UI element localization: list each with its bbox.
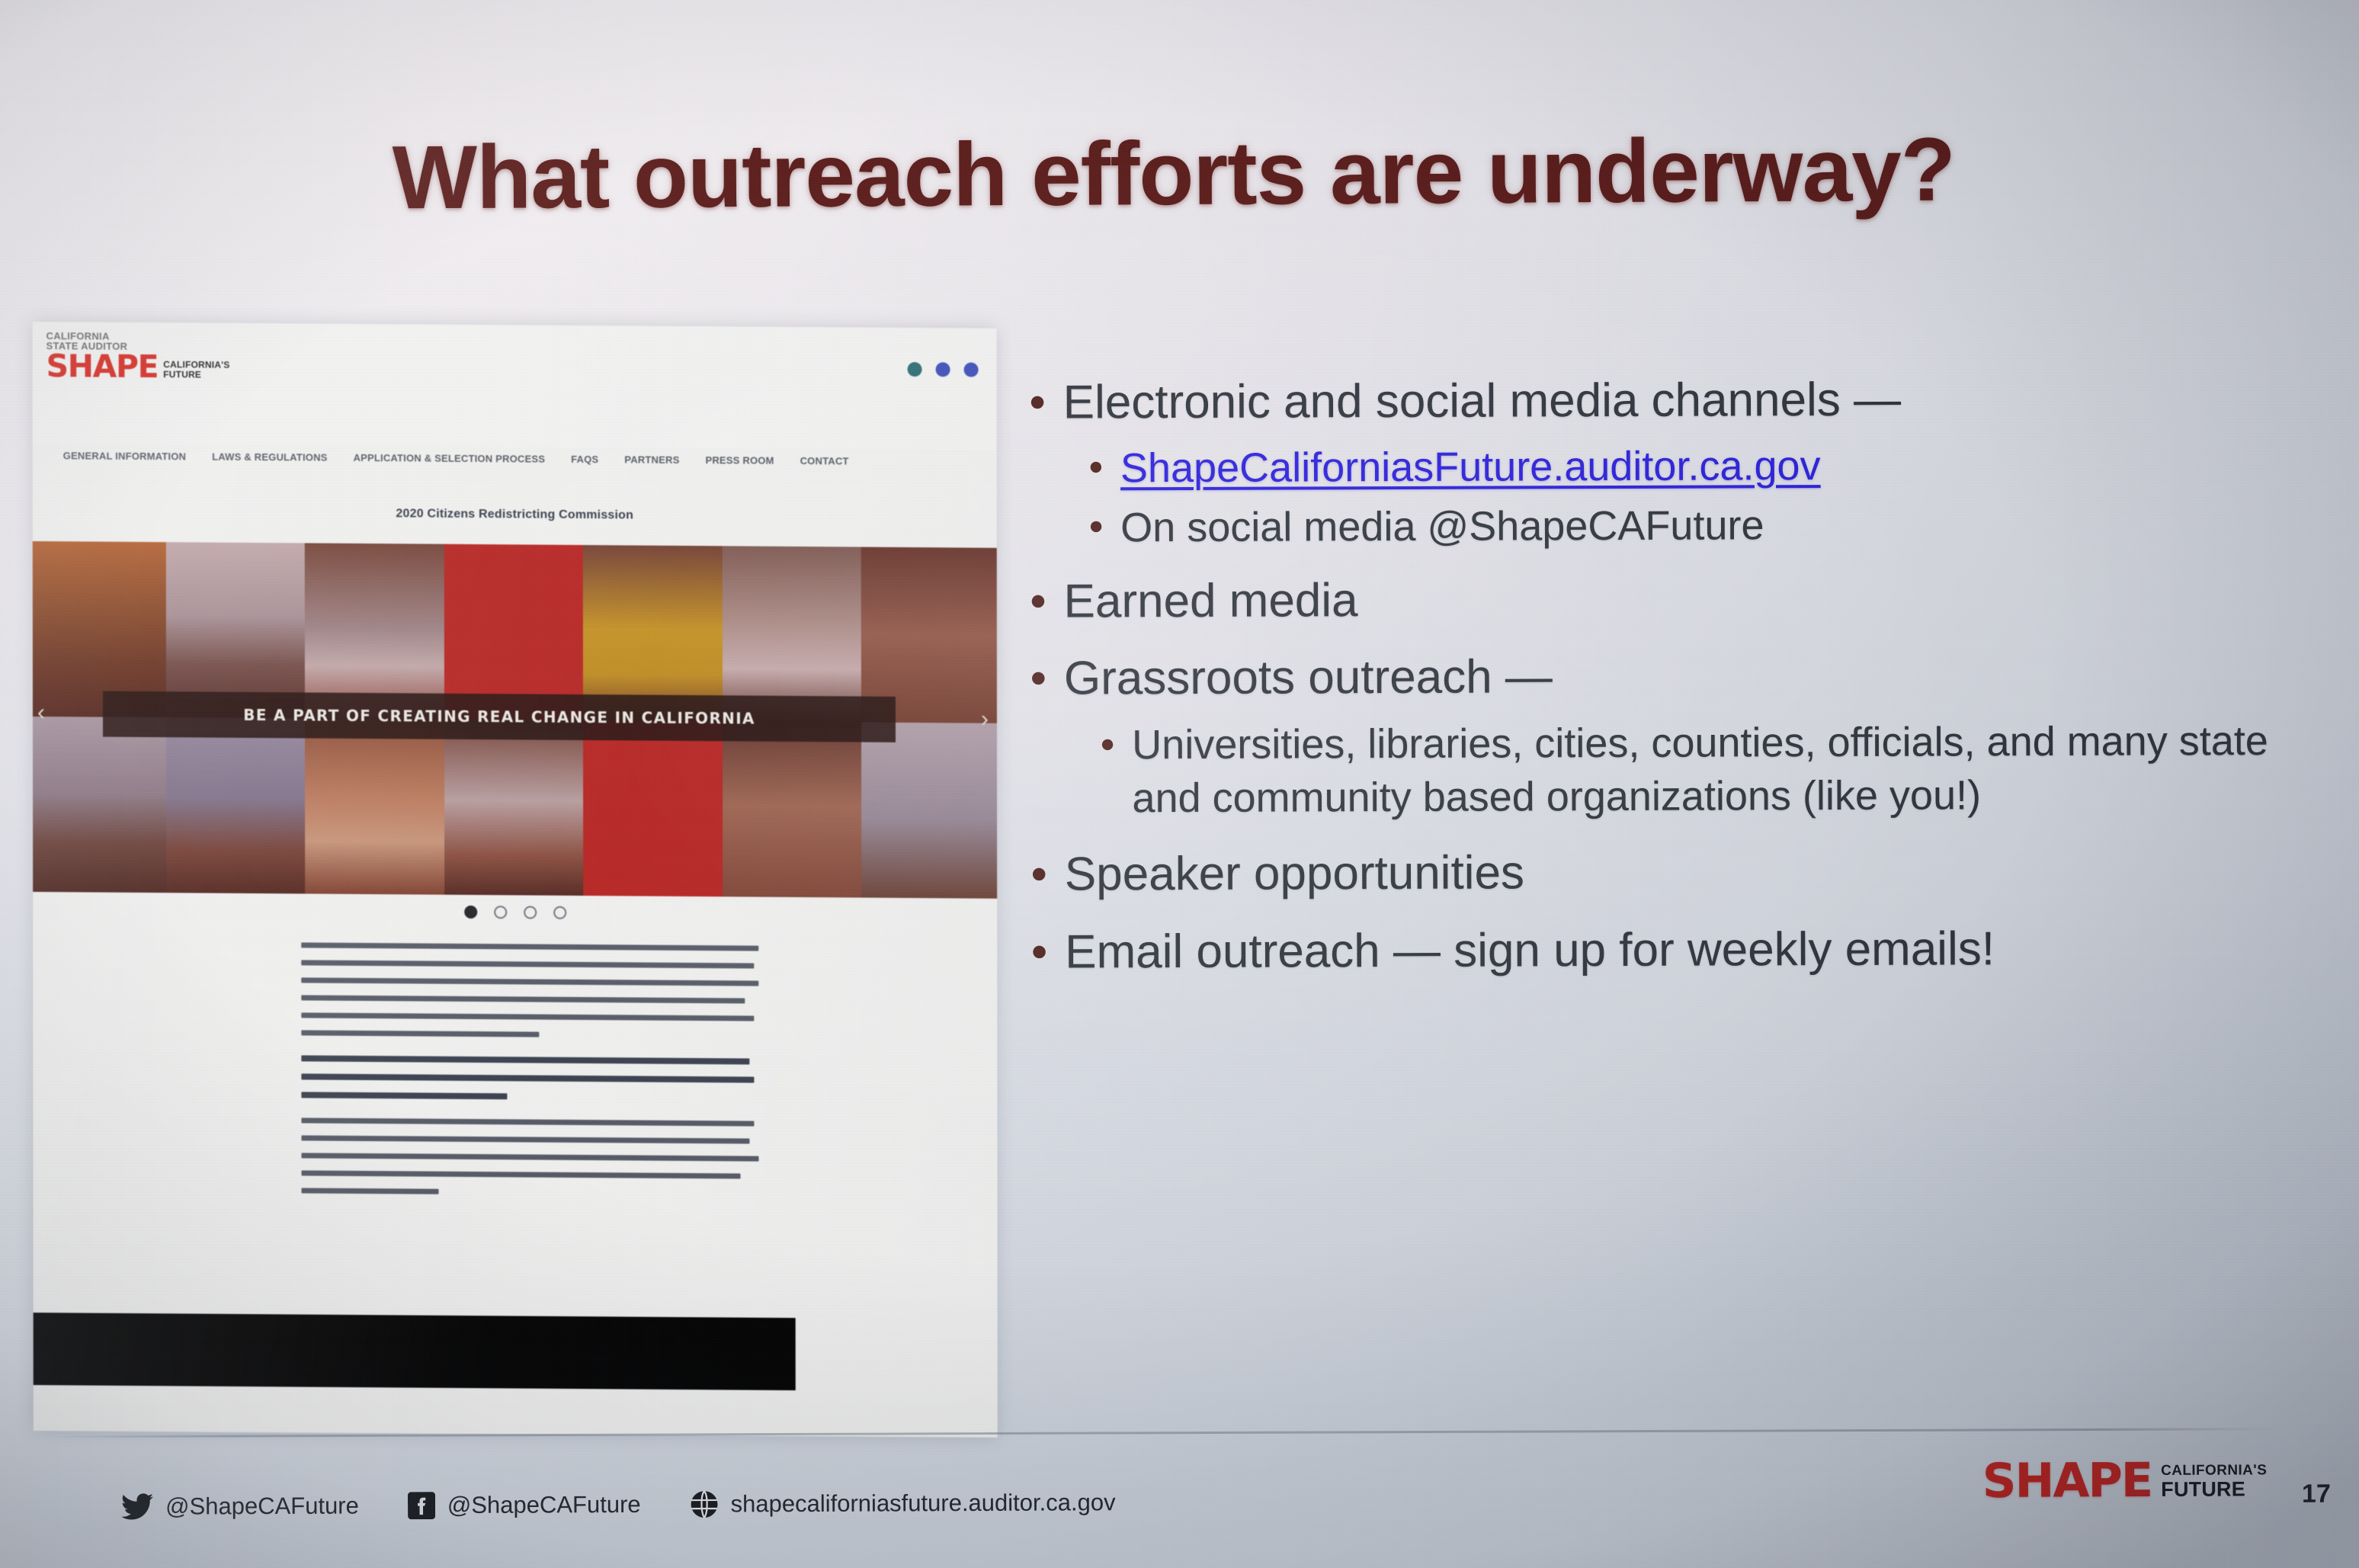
bullet-item: ● Electronic and social media channels — <box>1028 368 2324 434</box>
bullet-marker-icon: ● <box>1088 510 1104 544</box>
carousel-dot[interactable] <box>524 906 537 919</box>
nav-item-partners[interactable]: PARTNERS <box>624 454 679 466</box>
mosaic-photo <box>861 723 997 899</box>
carousel-prev-icon[interactable]: ‹ <box>37 700 45 726</box>
bullet-item: ● Speaker opportunities <box>1030 839 2325 906</box>
bullet-text: Email outreach — sign up for weekly emai… <box>1065 919 1995 983</box>
mosaic-photo <box>166 717 306 893</box>
footer-facebook-handle: @ShapeCAFuture <box>447 1491 641 1519</box>
bullet-marker-icon: ● <box>1028 383 1046 421</box>
website-screenshot-image: CALIFORNIA STATE AUDITOR SHAPE CALIFORNI… <box>33 322 998 1438</box>
bullet-text: Electronic and social media channels — <box>1063 370 1902 434</box>
footer-twitter: @ShapeCAFuture <box>121 1493 359 1521</box>
globe-icon <box>690 1489 719 1518</box>
bullet-marker-icon: ● <box>1030 658 1047 696</box>
website-social-icons[interactable] <box>908 362 979 377</box>
photo-mosaic-carousel: BE A PART OF CREATING REAL CHANGE IN CAL… <box>33 541 998 899</box>
carousel-dots[interactable] <box>33 903 997 922</box>
page-title: What outreach efforts are underway? <box>0 116 2354 232</box>
social-icon-1[interactable] <box>908 362 922 377</box>
mosaic-photo <box>33 717 166 893</box>
bullet-item: ● Universities, libraries, cities, count… <box>1100 714 2325 826</box>
website-nav[interactable]: GENERAL INFORMATION LAWS & REGULATIONS A… <box>33 450 997 468</box>
bullet-item: ● On social media @ShapeCAFuture <box>1088 497 2325 555</box>
body-paragraph <box>301 1117 758 1196</box>
body-paragraph-bold <box>301 1055 758 1101</box>
mosaic-photo <box>723 721 862 897</box>
website-logo: CALIFORNIA STATE AUDITOR SHAPE CALIFORNI… <box>46 331 230 380</box>
mosaic-photo <box>444 720 584 896</box>
slide-footer: @ShapeCAFuture @ShapeCAFuture shapecalif… <box>121 1483 2301 1521</box>
mosaic-accent-panel <box>583 720 723 896</box>
footer-twitter-handle: @ShapeCAFuture <box>165 1493 359 1521</box>
nav-item-application-selection-process[interactable]: APPLICATION & SELECTION PROCESS <box>354 452 546 465</box>
nav-item-general-information[interactable]: GENERAL INFORMATION <box>63 450 186 462</box>
footer-facebook: @ShapeCAFuture <box>408 1491 641 1519</box>
bullet-item: ● ShapeCaliforniasFuture.auditor.ca.gov <box>1088 437 2325 495</box>
bullet-text: Speaker opportunities <box>1065 842 1524 906</box>
website-body-copy <box>301 942 758 1216</box>
bullet-item: ● Grassroots outreach — <box>1030 643 2325 710</box>
carousel-next-icon[interactable]: › <box>981 707 989 733</box>
nav-item-press-room[interactable]: PRESS ROOM <box>705 454 774 467</box>
social-icon-2[interactable] <box>936 362 950 377</box>
nav-item-laws-regulations[interactable]: LAWS & REGULATIONS <box>212 451 327 463</box>
bullet-text: On social media @ShapeCAFuture <box>1120 499 1764 554</box>
bullet-marker-icon: ● <box>1029 582 1046 620</box>
bullet-marker-icon: ● <box>1100 727 1115 761</box>
body-paragraph <box>301 942 758 1038</box>
nav-item-faqs[interactable]: FAQS <box>571 454 598 465</box>
bullet-text: Grassroots outreach — <box>1064 646 1553 710</box>
twitter-icon <box>121 1493 153 1521</box>
bullet-item: ● Email outreach — sign up for weekly em… <box>1030 918 2326 984</box>
carousel-dot[interactable] <box>553 906 566 919</box>
logo-shape-text: SHAPE <box>1982 1461 2152 1501</box>
logo-future-text: FUTURE <box>2161 1479 2267 1500</box>
shape-brand-logo: SHAPE CALIFORNIA'S FUTURE <box>1982 1460 2267 1501</box>
carousel-banner-text: BE A PART OF CREATING REAL CHANGE IN CAL… <box>103 691 896 742</box>
bullet-marker-icon: ● <box>1088 450 1104 483</box>
bullet-item: ● Earned media <box>1029 567 2325 633</box>
carousel-dot-active[interactable] <box>464 906 477 919</box>
bullet-text: Universities, libraries, cities, countie… <box>1132 714 2325 826</box>
carousel-dot[interactable] <box>494 906 507 919</box>
website-header: CALIFORNIA STATE AUDITOR SHAPE CALIFORNI… <box>33 322 997 451</box>
website-heading: 2020 Citizens Redistricting Commission <box>33 505 997 525</box>
bullet-marker-icon: ● <box>1030 932 1048 970</box>
bullet-text: Earned media <box>1063 570 1357 633</box>
bullet-list: ● Electronic and social media channels —… <box>1028 368 2326 992</box>
website-logo-line2: STATE AUDITOR <box>46 341 230 352</box>
social-icon-3[interactable] <box>964 362 979 377</box>
logo-californias-text: CALIFORNIA'S <box>2161 1462 2267 1480</box>
website-logo-ca2: FUTURE <box>163 369 201 380</box>
slide-page-number: 17 <box>2302 1480 2331 1509</box>
footer-website: shapecaliforniasfuture.auditor.ca.gov <box>690 1488 1116 1518</box>
mosaic-photo <box>305 718 444 894</box>
website-link[interactable]: ShapeCaliforniasFuture.auditor.ca.gov <box>1120 439 1821 495</box>
presentation-slide: What outreach efforts are underway? CALI… <box>0 0 2359 1568</box>
nav-item-contact[interactable]: CONTACT <box>800 455 849 467</box>
projected-slide-photo: What outreach efforts are underway? CALI… <box>0 0 2359 1568</box>
footer-website-url: shapecaliforniasfuture.auditor.ca.gov <box>731 1489 1116 1518</box>
website-footer-black-bar <box>33 1313 796 1390</box>
bullet-marker-icon: ● <box>1030 854 1048 892</box>
website-logo-shape: SHAPE <box>46 353 159 380</box>
facebook-icon <box>408 1492 435 1519</box>
